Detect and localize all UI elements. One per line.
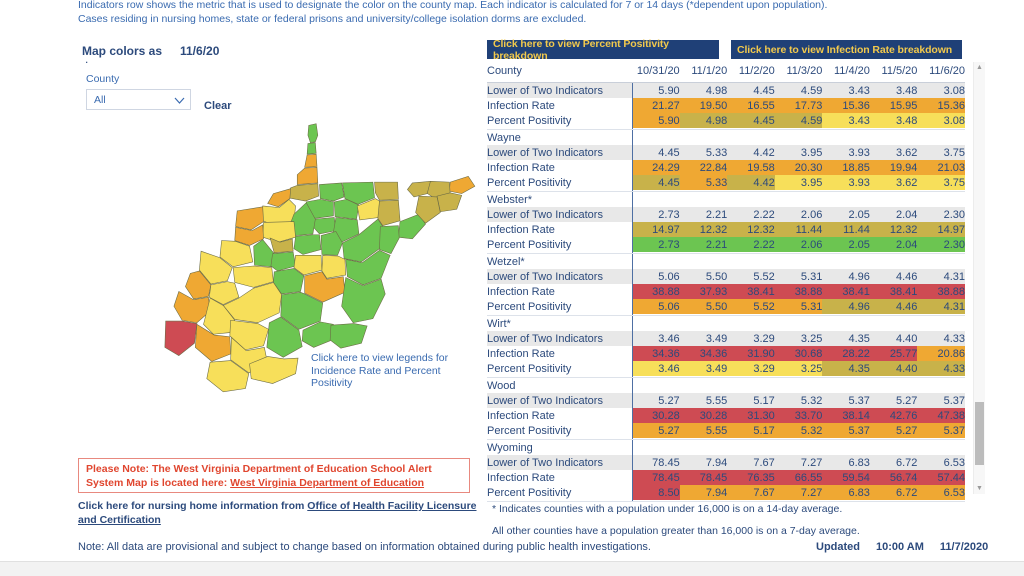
metric-label-infection: Infection Rate xyxy=(487,284,632,299)
updated-label: Updated xyxy=(816,541,860,553)
table-row[interactable]: Lower of Two Indicators2.732.212.222.062… xyxy=(487,207,965,222)
map-county-webster[interactable] xyxy=(322,255,346,278)
cell-lower: 5.06 xyxy=(632,269,680,284)
updated-date: 11/7/2020 xyxy=(940,541,988,553)
cell-infection: 24.29 xyxy=(632,160,680,175)
cell-lower: 6.83 xyxy=(822,455,870,470)
cell-lower: 5.50 xyxy=(680,269,728,284)
cell-infection: 11.44 xyxy=(822,222,870,237)
map-county-jefferson[interactable] xyxy=(449,176,474,193)
metric-label-infection: Infection Rate xyxy=(487,408,632,423)
cell-lower: 4.59 xyxy=(775,83,823,99)
cell-lower: 3.49 xyxy=(680,331,728,346)
county-name-spacer xyxy=(870,378,918,394)
metric-label-lower: Lower of Two Indicators xyxy=(487,145,632,160)
county-indicator-panel: Click here to view Percent Positivity br… xyxy=(487,40,982,495)
metric-label-lower: Lower of Two Indicators xyxy=(487,455,632,470)
map-county-brooke[interactable] xyxy=(307,143,316,155)
county-name-spacer xyxy=(680,192,728,208)
county-name-spacer xyxy=(775,192,823,208)
map-county-gilmer[interactable] xyxy=(271,252,296,271)
cell-positivity: 5.37 xyxy=(822,423,870,438)
cell-infection: 34.36 xyxy=(680,346,728,361)
cell-lower: 3.48 xyxy=(870,83,918,99)
cell-positivity: 4.42 xyxy=(727,175,775,190)
cell-lower: 5.27 xyxy=(870,393,918,408)
cell-infection: 21.27 xyxy=(632,98,680,113)
cell-positivity: 4.59 xyxy=(775,113,823,128)
cell-lower: 5.37 xyxy=(822,393,870,408)
window-bottom-bar xyxy=(0,561,1024,576)
metric-label-infection: Infection Rate xyxy=(487,98,632,113)
cell-infection: 38.41 xyxy=(870,284,918,299)
cell-positivity: 2.73 xyxy=(632,237,680,252)
cell-infection: 21.03 xyxy=(917,160,965,175)
county-name: Webster* xyxy=(487,192,632,208)
table-row[interactable]: Infection Rate24.2922.8419.5820.3018.851… xyxy=(487,160,965,175)
cell-positivity: 3.43 xyxy=(822,113,870,128)
cell-positivity: 4.40 xyxy=(870,361,918,376)
cell-lower: 78.45 xyxy=(632,455,680,470)
table-row[interactable]: Lower of Two Indicators4.455.334.423.953… xyxy=(487,145,965,160)
county-name-spacer xyxy=(680,130,728,146)
map-county-wetzel[interactable] xyxy=(288,184,318,201)
county-indicator-table: County 10/31/20 11/1/20 11/2/20 11/3/20 … xyxy=(487,63,965,502)
county-name-spacer xyxy=(632,378,680,394)
table-row[interactable]: Infection Rate78.4578.4576.3566.5559.545… xyxy=(487,470,965,485)
breakdown-button-row: Click here to view Percent Positivity br… xyxy=(487,40,982,60)
cell-lower: 3.43 xyxy=(822,83,870,99)
metric-label-lower: Lower of Two Indicators xyxy=(487,269,632,284)
county-name-spacer xyxy=(870,316,918,332)
county-filter-value: All xyxy=(94,94,106,106)
updated-stamp: Updated10:00 AM11/7/2020 xyxy=(816,541,988,553)
county-name-spacer xyxy=(727,440,775,456)
table-row[interactable]: Percent Positivity5.065.505.525.314.964.… xyxy=(487,299,965,314)
cell-infection: 19.58 xyxy=(727,160,775,175)
cell-positivity: 5.32 xyxy=(775,423,823,438)
cell-positivity: 4.96 xyxy=(822,299,870,314)
cell-positivity: 5.50 xyxy=(680,299,728,314)
county-name-spacer xyxy=(822,130,870,146)
county-name-spacer xyxy=(822,192,870,208)
cell-infection: 14.97 xyxy=(632,222,680,237)
metric-label-positivity: Percent Positivity xyxy=(487,423,632,438)
nursing-home-notice: Click here for nursing home information … xyxy=(78,500,478,527)
school-alert-link[interactable]: West Virginia Department of Education xyxy=(230,477,424,489)
county-name-spacer xyxy=(917,378,965,394)
cell-infection: 18.85 xyxy=(822,160,870,175)
county-name-spacer xyxy=(822,316,870,332)
cell-positivity: 2.06 xyxy=(775,237,823,252)
county-name-spacer xyxy=(822,254,870,270)
cell-positivity: 2.22 xyxy=(727,237,775,252)
county-name-spacer xyxy=(727,316,775,332)
county-name-spacer xyxy=(775,130,823,146)
cell-lower: 4.42 xyxy=(727,145,775,160)
cell-infection: 38.14 xyxy=(822,408,870,423)
cell-infection: 38.41 xyxy=(727,284,775,299)
county-name-spacer xyxy=(917,254,965,270)
metric-label-lower: Lower of Two Indicators xyxy=(487,83,632,99)
county-name-spacer xyxy=(870,254,918,270)
cell-lower: 4.96 xyxy=(822,269,870,284)
cell-lower: 7.67 xyxy=(727,455,775,470)
header-date-6: 11/6/20 xyxy=(917,63,965,83)
cell-lower: 3.46 xyxy=(632,331,680,346)
county-name-spacer xyxy=(822,440,870,456)
cell-lower: 3.08 xyxy=(917,83,965,99)
cell-lower: 4.98 xyxy=(680,83,728,99)
cell-infection: 57.44 xyxy=(917,470,965,485)
cell-infection: 30.68 xyxy=(775,346,823,361)
cell-infection: 25.77 xyxy=(870,346,918,361)
cell-lower: 3.95 xyxy=(775,145,823,160)
table-row[interactable]: Percent Positivity4.455.334.423.953.933.… xyxy=(487,175,965,190)
cell-lower: 5.37 xyxy=(917,393,965,408)
cell-positivity: 2.30 xyxy=(917,237,965,252)
county-name-spacer xyxy=(632,130,680,146)
table-row[interactable]: Infection Rate14.9712.3212.3211.4411.441… xyxy=(487,222,965,237)
cell-infection: 59.54 xyxy=(822,470,870,485)
county-name-spacer xyxy=(822,378,870,394)
cell-positivity: 5.90 xyxy=(632,113,680,128)
map-county-grant[interactable] xyxy=(378,200,400,225)
county-name-spacer xyxy=(917,130,965,146)
cell-infection: 78.45 xyxy=(680,470,728,485)
scroll-up-icon[interactable]: ▲ xyxy=(974,62,985,73)
cell-infection: 12.32 xyxy=(727,222,775,237)
cell-infection: 28.22 xyxy=(822,346,870,361)
cell-lower: 7.27 xyxy=(775,455,823,470)
updated-time: 10:00 AM xyxy=(876,541,924,553)
table-row[interactable]: Percent Positivity2.732.212.222.062.052.… xyxy=(487,237,965,252)
county-name-spacer xyxy=(632,440,680,456)
cell-positivity: 2.04 xyxy=(870,237,918,252)
cell-infection: 76.35 xyxy=(727,470,775,485)
cell-positivity: 4.46 xyxy=(870,299,918,314)
table-row[interactable]: Lower of Two Indicators5.065.505.525.314… xyxy=(487,269,965,284)
table-row[interactable]: Lower of Two Indicators3.463.493.293.254… xyxy=(487,331,965,346)
cell-lower: 5.90 xyxy=(632,83,680,99)
cell-lower: 3.25 xyxy=(775,331,823,346)
top-notes: Indicators row shows the metric that is … xyxy=(78,0,838,26)
cell-infection: 12.32 xyxy=(680,222,728,237)
cell-infection: 31.90 xyxy=(727,346,775,361)
cell-lower: 2.22 xyxy=(727,207,775,222)
cell-infection: 34.36 xyxy=(632,346,680,361)
county-name-spacer xyxy=(680,378,728,394)
cell-positivity: 3.75 xyxy=(917,175,965,190)
metric-label-positivity: Percent Positivity xyxy=(487,113,632,128)
cell-positivity: 3.25 xyxy=(775,361,823,376)
cell-infection: 11.44 xyxy=(775,222,823,237)
cell-positivity: 5.55 xyxy=(680,423,728,438)
cell-positivity: 3.95 xyxy=(775,175,823,190)
top-note-2: Cases residing in nursing homes, state o… xyxy=(78,12,838,26)
cell-lower: 3.62 xyxy=(870,145,918,160)
percent-positivity-breakdown-button[interactable]: Click here to view Percent Positivity br… xyxy=(487,40,719,59)
header-date-4: 11/4/20 xyxy=(822,63,870,83)
county-name-spacer xyxy=(680,254,728,270)
county-name-spacer xyxy=(775,254,823,270)
dashboard-page: Indicators row shows the metric that is … xyxy=(0,0,1024,576)
cell-positivity: 5.52 xyxy=(727,299,775,314)
infection-rate-breakdown-button[interactable]: Click here to view Infection Rate breakd… xyxy=(731,40,962,59)
cell-lower: 4.46 xyxy=(870,269,918,284)
cell-lower: 4.40 xyxy=(870,331,918,346)
cell-positivity: 2.05 xyxy=(822,237,870,252)
table-row[interactable]: Infection Rate38.8837.9338.4138.8838.413… xyxy=(487,284,965,299)
county-name-spacer xyxy=(632,192,680,208)
table-scrollbar[interactable]: ▲ ▼ xyxy=(973,62,985,494)
header-date-0: 10/31/20 xyxy=(632,63,680,83)
as-of-date: 11/6/20 xyxy=(180,44,219,58)
county-name-spacer xyxy=(870,192,918,208)
metric-label-lower: Lower of Two Indicators xyxy=(487,393,632,408)
cell-positivity: 5.27 xyxy=(632,423,680,438)
map-county-hampshire[interactable] xyxy=(437,193,462,212)
county-name-spacer xyxy=(727,130,775,146)
cell-lower: 4.35 xyxy=(822,331,870,346)
county-name-row[interactable]: Wetzel* xyxy=(487,254,965,270)
top-note-1: Indicators row shows the metric that is … xyxy=(78,0,838,12)
county-name-row[interactable]: Wayne xyxy=(487,130,965,146)
map-county-monongalia[interactable] xyxy=(319,183,344,201)
map-county-hancock[interactable] xyxy=(308,124,318,143)
county-name-spacer xyxy=(917,440,965,456)
map-county-lewis[interactable] xyxy=(294,235,321,255)
map-county-ohio[interactable] xyxy=(305,154,317,167)
cell-infection: 47.38 xyxy=(917,408,965,423)
cell-positivity: 3.93 xyxy=(822,175,870,190)
cell-infection: 31.30 xyxy=(727,408,775,423)
county-name-row[interactable]: Wirt* xyxy=(487,316,965,332)
cell-lower: 5.27 xyxy=(632,393,680,408)
cell-infection: 38.88 xyxy=(917,284,965,299)
cell-positivity: 3.08 xyxy=(917,113,965,128)
metric-label-positivity: Percent Positivity xyxy=(487,299,632,314)
cell-lower: 4.45 xyxy=(727,83,775,99)
cell-positivity: 5.27 xyxy=(870,423,918,438)
header-date-5: 11/5/20 xyxy=(870,63,918,83)
cell-infection: 38.88 xyxy=(775,284,823,299)
cell-lower: 5.55 xyxy=(680,393,728,408)
cell-lower: 5.17 xyxy=(727,393,775,408)
map-county-taylor[interactable] xyxy=(313,217,336,233)
metric-label-positivity: Percent Positivity xyxy=(487,175,632,190)
cell-lower: 6.72 xyxy=(870,455,918,470)
cell-lower: 2.04 xyxy=(870,207,918,222)
metric-label-infection: Infection Rate xyxy=(487,470,632,485)
cell-positivity: 5.31 xyxy=(775,299,823,314)
county-filter-label: County xyxy=(86,73,119,85)
cell-positivity: 5.17 xyxy=(727,423,775,438)
cell-infection: 20.86 xyxy=(917,346,965,361)
map-colors-marker: . xyxy=(85,57,88,61)
table-row[interactable]: Lower of Two Indicators5.904.984.454.593… xyxy=(487,83,965,99)
county-name-spacer xyxy=(775,316,823,332)
map-county-pendleton[interactable] xyxy=(379,226,399,254)
cell-infection: 22.84 xyxy=(680,160,728,175)
cell-positivity: 4.33 xyxy=(917,361,965,376)
cell-lower: 2.06 xyxy=(775,207,823,222)
metric-label-positivity: Percent Positivity xyxy=(487,237,632,252)
cell-positivity: 4.31 xyxy=(917,299,965,314)
cell-lower: 3.93 xyxy=(822,145,870,160)
county-name-row[interactable]: Wyoming xyxy=(487,440,965,456)
cell-infection: 66.55 xyxy=(775,470,823,485)
cell-positivity: 5.33 xyxy=(680,175,728,190)
county-name: Wood xyxy=(487,378,632,394)
county-name: Wirt* xyxy=(487,316,632,332)
county-name-spacer xyxy=(870,130,918,146)
metric-label-infection: Infection Rate xyxy=(487,160,632,175)
cell-infection: 20.30 xyxy=(775,160,823,175)
school-alert-text: Please Note: The West Virginia Departmen… xyxy=(86,463,462,490)
cell-positivity: 3.46 xyxy=(632,361,680,376)
map-county-marshall[interactable] xyxy=(297,167,318,184)
county-name-row[interactable]: Wood xyxy=(487,378,965,394)
cell-lower: 5.33 xyxy=(680,145,728,160)
county-name-spacer xyxy=(727,254,775,270)
cell-infection: 19.94 xyxy=(870,160,918,175)
cell-lower: 3.75 xyxy=(917,145,965,160)
header-date-3: 11/3/20 xyxy=(775,63,823,83)
table-row[interactable]: Infection Rate30.2830.2831.3033.7038.144… xyxy=(487,408,965,423)
table-row[interactable]: Infection Rate34.3634.3631.9030.6828.222… xyxy=(487,346,965,361)
county-name: Wetzel* xyxy=(487,254,632,270)
cell-infection: 15.36 xyxy=(822,98,870,113)
cell-lower: 2.05 xyxy=(822,207,870,222)
footnote-1: * Indicates counties with a population u… xyxy=(492,498,962,520)
county-name: Wayne xyxy=(487,130,632,146)
cell-positivity: 4.45 xyxy=(727,113,775,128)
map-colors-as-label: Map colors as xyxy=(82,44,162,58)
cell-lower: 2.30 xyxy=(917,207,965,222)
map-county-wood[interactable] xyxy=(236,207,264,230)
county-name: Wyoming xyxy=(487,440,632,456)
county-name-spacer xyxy=(917,316,965,332)
nursing-prefix: Click here for nursing home information … xyxy=(78,500,307,512)
county-name-row[interactable]: Webster* xyxy=(487,192,965,208)
cell-lower: 5.52 xyxy=(727,269,775,284)
metric-label-lower: Lower of Two Indicators xyxy=(487,207,632,222)
header-date-2: 11/2/20 xyxy=(727,63,775,83)
cell-positivity: 4.35 xyxy=(822,361,870,376)
cell-positivity: 5.37 xyxy=(917,423,965,438)
cell-infection: 30.28 xyxy=(632,408,680,423)
cell-infection: 37.93 xyxy=(680,284,728,299)
header-date-1: 11/1/20 xyxy=(680,63,728,83)
footnote-2: All other counties have a population gre… xyxy=(492,520,962,542)
legend-link[interactable]: Click here to view legends for Incidence… xyxy=(311,352,461,390)
cell-positivity: 3.29 xyxy=(727,361,775,376)
cell-infection: 30.28 xyxy=(680,408,728,423)
cell-lower: 6.53 xyxy=(917,455,965,470)
table-body: Lower of Two Indicators5.904.984.454.593… xyxy=(487,83,965,502)
provisional-note: Note: All data are provisional and subje… xyxy=(78,541,651,553)
cell-positivity: 4.98 xyxy=(680,113,728,128)
scrollbar-thumb[interactable] xyxy=(975,402,984,465)
cell-infection: 33.70 xyxy=(775,408,823,423)
school-alert-notice: Please Note: The West Virginia Departmen… xyxy=(78,458,470,493)
metric-label-lower: Lower of Two Indicators xyxy=(487,331,632,346)
cell-infection: 38.41 xyxy=(822,284,870,299)
cell-lower: 4.45 xyxy=(632,145,680,160)
cell-infection: 14.97 xyxy=(917,222,965,237)
cell-lower: 5.32 xyxy=(775,393,823,408)
cell-infection: 15.36 xyxy=(917,98,965,113)
cell-lower: 2.73 xyxy=(632,207,680,222)
map-county-mineral[interactable] xyxy=(375,182,399,200)
table-row[interactable]: Infection Rate21.2719.5016.5517.7315.361… xyxy=(487,98,965,113)
cell-lower: 4.33 xyxy=(917,331,965,346)
header-county: County xyxy=(487,63,632,83)
metric-label-infection: Infection Rate xyxy=(487,222,632,237)
county-name-spacer xyxy=(917,192,965,208)
cell-positivity: 4.45 xyxy=(632,175,680,190)
county-name-spacer xyxy=(870,440,918,456)
cell-infection: 38.88 xyxy=(632,284,680,299)
metric-label-positivity: Percent Positivity xyxy=(487,361,632,376)
county-name-spacer xyxy=(632,254,680,270)
table-footnotes: * Indicates counties with a population u… xyxy=(492,498,962,542)
county-name-spacer xyxy=(775,440,823,456)
cell-positivity: 3.48 xyxy=(870,113,918,128)
cell-infection: 17.73 xyxy=(775,98,823,113)
cell-positivity: 5.06 xyxy=(632,299,680,314)
cell-infection: 56.74 xyxy=(870,470,918,485)
cell-lower: 5.31 xyxy=(775,269,823,284)
cell-lower: 4.31 xyxy=(917,269,965,284)
cell-positivity: 3.49 xyxy=(680,361,728,376)
cell-lower: 3.29 xyxy=(727,331,775,346)
county-name-spacer xyxy=(680,440,728,456)
table-row[interactable]: Percent Positivity5.904.984.454.593.433.… xyxy=(487,113,965,128)
cell-lower: 2.21 xyxy=(680,207,728,222)
county-name-spacer xyxy=(680,316,728,332)
map-county-morgan[interactable] xyxy=(407,181,430,197)
cell-infection: 12.32 xyxy=(870,222,918,237)
map-county-monroe[interactable] xyxy=(330,324,367,349)
cell-positivity: 3.62 xyxy=(870,175,918,190)
cell-infection: 78.45 xyxy=(632,470,680,485)
cell-positivity: 2.21 xyxy=(680,237,728,252)
cell-infection: 16.55 xyxy=(727,98,775,113)
county-name-spacer xyxy=(775,378,823,394)
map-county-mingo[interactable] xyxy=(165,321,197,356)
cell-infection: 15.95 xyxy=(870,98,918,113)
table-row[interactable]: Percent Positivity5.275.555.175.325.375.… xyxy=(487,423,965,438)
cell-infection: 19.50 xyxy=(680,98,728,113)
county-name-spacer xyxy=(727,378,775,394)
table-row[interactable]: Lower of Two Indicators78.457.947.677.27… xyxy=(487,455,965,470)
scroll-down-icon[interactable]: ▼ xyxy=(974,483,985,494)
table-row[interactable]: Percent Positivity3.463.493.293.254.354.… xyxy=(487,361,965,376)
cell-lower: 7.94 xyxy=(680,455,728,470)
metric-label-infection: Infection Rate xyxy=(487,346,632,361)
table-header-row: County 10/31/20 11/1/20 11/2/20 11/3/20 … xyxy=(487,63,965,83)
table-row[interactable]: Lower of Two Indicators5.275.555.175.325… xyxy=(487,393,965,408)
cell-infection: 42.76 xyxy=(870,408,918,423)
county-name-spacer xyxy=(632,316,680,332)
county-name-spacer xyxy=(727,192,775,208)
